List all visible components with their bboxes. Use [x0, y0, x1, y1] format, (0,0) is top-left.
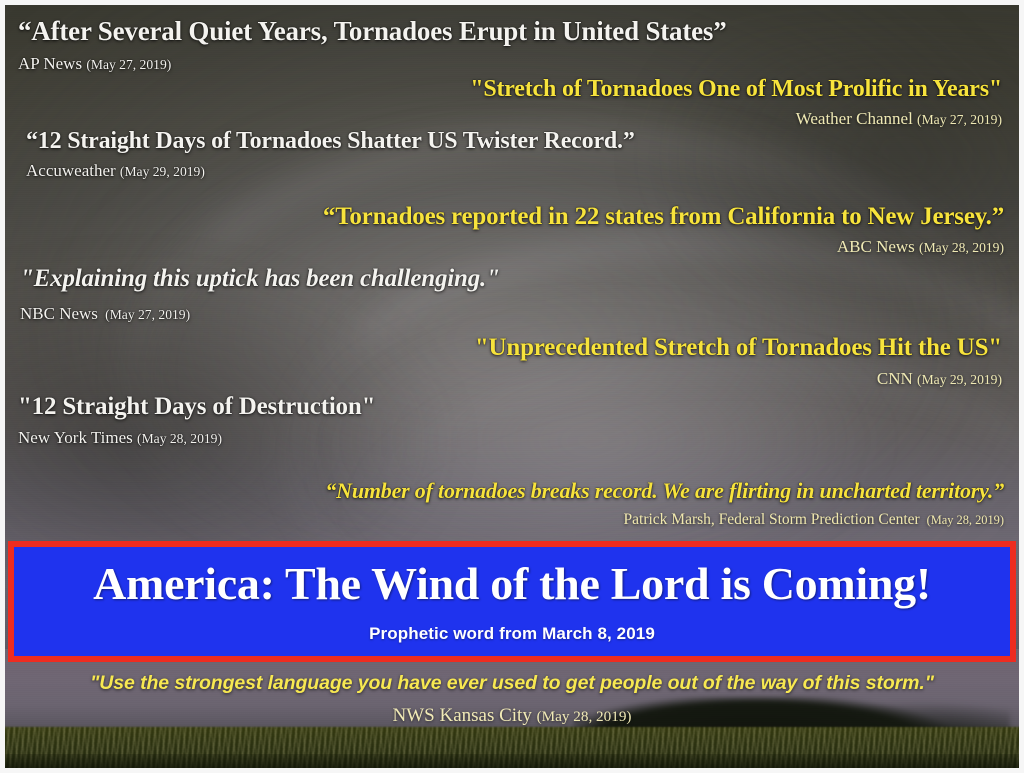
- quote-headline: "Explaining this uptick has been challen…: [20, 265, 500, 293]
- quote-block-patrick-marsh: “Number of tornadoes breaks record. We a…: [325, 478, 1004, 529]
- quote-source-name: Accuweather: [26, 161, 116, 180]
- quote-source-date: (May 28, 2019): [137, 431, 222, 446]
- banner-inner: America: The Wind of the Lord is Coming!…: [14, 547, 1010, 656]
- quote-source: NBC News (May 27, 2019): [20, 304, 500, 324]
- quote-source-name: New York Times: [18, 428, 133, 447]
- quote-source-date: (May 28, 2019): [537, 708, 632, 725]
- slide-canvas: “After Several Quiet Years, Tornadoes Er…: [0, 0, 1024, 773]
- quote-headline: "Stretch of Tornadoes One of Most Prolif…: [470, 76, 1002, 103]
- quote-source: AP News (May 27, 2019): [18, 54, 727, 74]
- quote-headline: "Use the strongest language you have eve…: [0, 672, 1024, 695]
- quote-source-date: (May 29, 2019): [120, 164, 205, 179]
- quote-block-nbc-news: "Explaining this uptick has been challen…: [20, 265, 500, 324]
- banner-title: America: The Wind of the Lord is Coming!: [93, 561, 931, 608]
- quote-headline: "Unprecedented Stretch of Tornadoes Hit …: [475, 334, 1002, 362]
- quote-source-date: (May 27, 2019): [917, 112, 1002, 127]
- quote-source-name: NBC News: [20, 304, 98, 323]
- quote-headline: “Tornadoes reported in 22 states from Ca…: [323, 203, 1004, 231]
- quote-source-name: CNN: [877, 369, 913, 388]
- quote-block-weather-channel: "Stretch of Tornadoes One of Most Prolif…: [470, 76, 1002, 129]
- quote-headline: "12 Straight Days of Destruction": [18, 393, 375, 421]
- quote-headline: “12 Straight Days of Tornadoes Shatter U…: [26, 128, 635, 155]
- quote-source-date: (May 28, 2019): [919, 240, 1004, 255]
- quote-headline: “After Several Quiet Years, Tornadoes Er…: [18, 16, 727, 47]
- quote-block-accuweather: “12 Straight Days of Tornadoes Shatter U…: [26, 128, 635, 181]
- quote-source-name: AP News: [18, 54, 82, 73]
- quote-source-date: (May 27, 2019): [86, 57, 171, 72]
- quote-source-name: ABC News: [837, 237, 915, 256]
- quote-source: ABC News (May 28, 2019): [323, 237, 1004, 257]
- quote-source: CNN (May 29, 2019): [475, 369, 1002, 389]
- quote-source: Weather Channel (May 27, 2019): [470, 109, 1002, 129]
- quote-source: NWS Kansas City (May 28, 2019): [0, 705, 1024, 727]
- quote-source-name: Patrick Marsh, Federal Storm Prediction …: [624, 511, 920, 528]
- quote-source-date: (May 29, 2019): [917, 372, 1002, 387]
- quote-source: Accuweather (May 29, 2019): [26, 161, 635, 181]
- quote-block-new-york-times: "12 Straight Days of Destruction" New Yo…: [18, 393, 375, 448]
- quote-source: New York Times (May 28, 2019): [18, 428, 375, 448]
- quote-source: Patrick Marsh, Federal Storm Prediction …: [325, 511, 1004, 529]
- quote-block-abc-news: “Tornadoes reported in 22 states from Ca…: [323, 203, 1004, 257]
- quote-source-name: Weather Channel: [796, 109, 913, 128]
- quote-block-ap-news: “After Several Quiet Years, Tornadoes Er…: [18, 16, 727, 74]
- quote-headline: “Number of tornadoes breaks record. We a…: [325, 478, 1004, 504]
- banner-subtitle: Prophetic word from March 8, 2019: [369, 624, 655, 644]
- quote-block-nws-kansas-city: "Use the strongest language you have eve…: [0, 672, 1024, 727]
- quote-source-date: (May 27, 2019): [105, 307, 190, 322]
- quote-source-date: (May 28, 2019): [927, 513, 1004, 527]
- quote-block-cnn: "Unprecedented Stretch of Tornadoes Hit …: [475, 334, 1002, 389]
- quote-source-name: NWS Kansas City: [393, 705, 532, 726]
- prophetic-word-banner: America: The Wind of the Lord is Coming!…: [8, 541, 1016, 662]
